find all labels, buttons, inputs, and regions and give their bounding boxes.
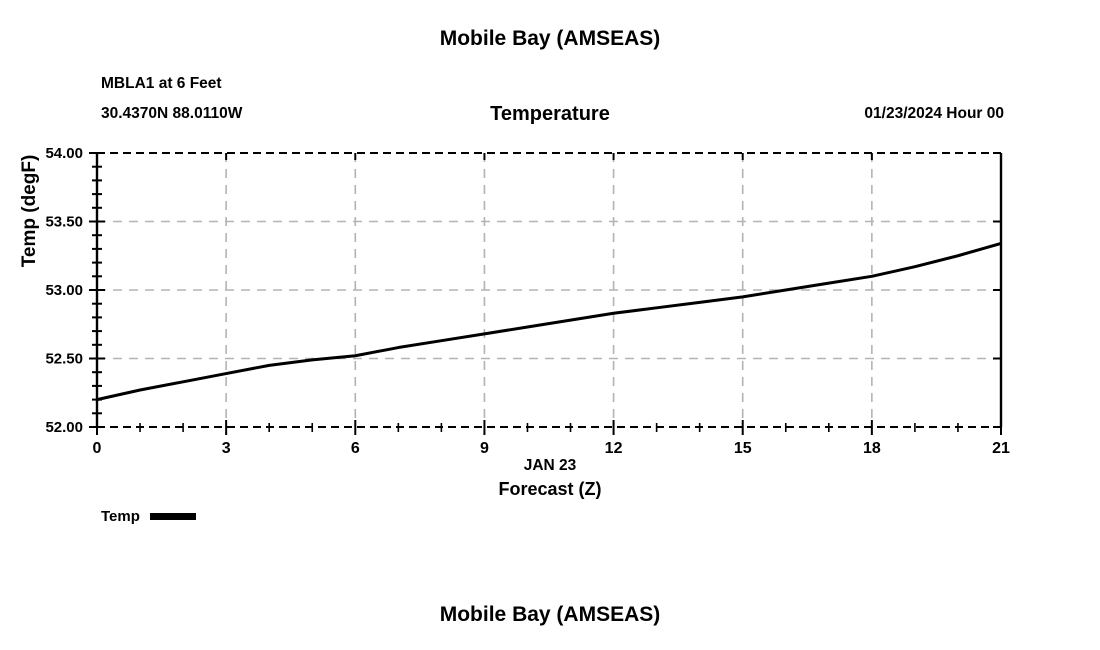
svg-text:21: 21 <box>992 440 1010 457</box>
svg-text:53.00: 53.00 <box>45 282 83 299</box>
x-axis-date-label: JAN 23 <box>0 457 1100 475</box>
x-axis-tick-labels: 036912151821 <box>93 440 1010 457</box>
svg-text:12: 12 <box>605 440 623 457</box>
temperature-line-chart: 52.0052.5053.0053.5054.00 036912151821 <box>0 0 1100 650</box>
y-axis-tick-labels: 52.0052.5053.0053.5054.00 <box>45 145 83 436</box>
chart-legend: Temp <box>101 508 196 525</box>
chart-major-ticks <box>89 153 1001 435</box>
svg-text:9: 9 <box>480 440 489 457</box>
chart-series-lines <box>97 243 1001 399</box>
svg-text:3: 3 <box>222 440 231 457</box>
legend-item-label-temp: Temp <box>101 508 140 525</box>
svg-text:0: 0 <box>93 440 102 457</box>
svg-text:53.50: 53.50 <box>45 214 83 231</box>
svg-text:54.00: 54.00 <box>45 145 83 162</box>
x-axis-title: Forecast (Z) <box>0 479 1100 500</box>
chart-gridlines <box>97 153 1001 427</box>
svg-text:52.50: 52.50 <box>45 351 83 368</box>
svg-text:18: 18 <box>863 440 881 457</box>
page-title-bottom: Mobile Bay (AMSEAS) <box>0 603 1100 627</box>
chart-container: 52.0052.5053.0053.5054.00 036912151821 T… <box>0 0 1100 650</box>
legend-line-swatch-temp <box>150 513 196 520</box>
svg-text:52.00: 52.00 <box>45 419 83 436</box>
svg-text:15: 15 <box>734 440 752 457</box>
svg-text:6: 6 <box>351 440 360 457</box>
chart-minor-ticks <box>92 167 958 432</box>
y-axis-title: Temp (degF) <box>19 111 41 311</box>
